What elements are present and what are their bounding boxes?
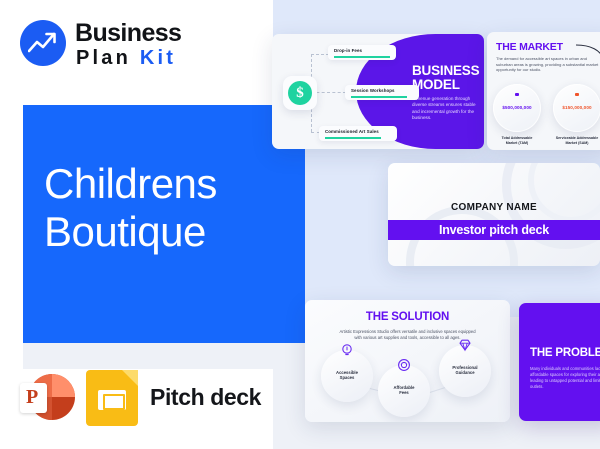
pitch-deck-title-band: Investor pitch deck xyxy=(388,220,600,240)
slide-the-market[interactable]: THE MARKET The demand for accessible art… xyxy=(487,32,600,150)
market-metric-caption: Serviceable Addressable Market (SAM) xyxy=(549,136,600,145)
metric-dot-icon xyxy=(515,93,518,96)
company-name-label: COMPANY NAME xyxy=(388,202,600,213)
format-badges: P Pitch deck xyxy=(20,370,280,426)
slide-business-model[interactable]: BUSINESS MODEL Revenue generation throug… xyxy=(272,34,484,149)
solution-pillar[interactable]: Professional Guidance xyxy=(439,345,491,397)
page-title: Childrens Boutique xyxy=(44,160,294,256)
solution-heading: THE SOLUTION xyxy=(305,311,510,323)
slide-pitch-deck-cover[interactable]: COMPANY NAME Investor pitch deck xyxy=(388,163,600,266)
solution-body: Artistic Expressions Studio offers versa… xyxy=(339,329,476,341)
powerpoint-icon: P xyxy=(20,372,70,422)
dollar-coin-icon: $ xyxy=(283,76,317,110)
brand-logo: Business Plan Kit xyxy=(20,16,220,76)
google-slides-icon xyxy=(86,370,138,426)
logo-word-plan: Plan xyxy=(76,47,131,69)
market-metric-value: $500,000,000 xyxy=(493,105,541,110)
business-model-item[interactable]: Session Workshops xyxy=(345,85,419,100)
market-metric-tam: $500,000,000 xyxy=(493,84,541,132)
business-model-heading: BUSINESS MODEL xyxy=(412,64,484,92)
business-model-item-label: Commissioned Art Sales xyxy=(325,129,379,134)
poster-canvas: Business Plan Kit Childrens Boutique P P… xyxy=(0,0,600,449)
solution-pillar-label: Affordable Fees xyxy=(378,385,430,396)
problem-body: Many individuals and communities lack ac… xyxy=(530,366,600,390)
diamond-gem-icon xyxy=(458,338,472,352)
business-model-item-label: Drop-in Fees xyxy=(334,48,362,53)
business-model-item[interactable]: Commissioned Art Sales xyxy=(319,126,397,141)
slide-the-problem[interactable]: THE PROBLEM Many individuals and communi… xyxy=(519,303,600,421)
solution-pillar-label: Professional Guidance xyxy=(439,365,491,376)
formats-label: Pitch deck xyxy=(150,384,261,411)
market-body: The demand for accessible art spaces in … xyxy=(496,56,600,73)
hero-block: Childrens Boutique xyxy=(23,105,305,343)
market-metric-caption: Total Addressable Market (TAM) xyxy=(489,136,545,145)
market-metric-value: $150,000,000 xyxy=(553,105,600,110)
dollar-glyph: $ xyxy=(288,81,312,105)
solution-pillar-label: Accessible Spaces xyxy=(321,370,373,381)
market-heading: THE MARKET xyxy=(496,41,563,53)
business-model-item-label: Session Workshops xyxy=(351,88,395,93)
logo-line-one: Business xyxy=(75,21,181,46)
growth-chart-circle-icon xyxy=(20,20,66,66)
lightbulb-icon xyxy=(340,343,354,357)
metric-dot-icon xyxy=(575,93,578,96)
logo-word-kit: Kit xyxy=(140,47,176,69)
target-circles-icon xyxy=(397,358,411,372)
slide-the-solution[interactable]: THE SOLUTION Artistic Expressions Studio… xyxy=(305,300,510,422)
solution-pillar[interactable]: Accessible Spaces xyxy=(321,350,373,402)
connector-top xyxy=(311,54,329,55)
powerpoint-glyph: P xyxy=(26,387,38,407)
background-strip-grey xyxy=(23,343,305,369)
business-model-body: Revenue generation through diverse strea… xyxy=(412,96,480,122)
solution-pillar[interactable]: Affordable Fees xyxy=(378,365,430,417)
problem-heading: THE PROBLEM xyxy=(530,347,600,359)
logo-line-two: Plan Kit xyxy=(76,48,176,68)
business-model-item[interactable]: Drop-in Fees xyxy=(328,45,396,60)
market-metric-sam: $150,000,000 xyxy=(553,84,600,132)
pitch-deck-title: Investor pitch deck xyxy=(388,223,600,237)
